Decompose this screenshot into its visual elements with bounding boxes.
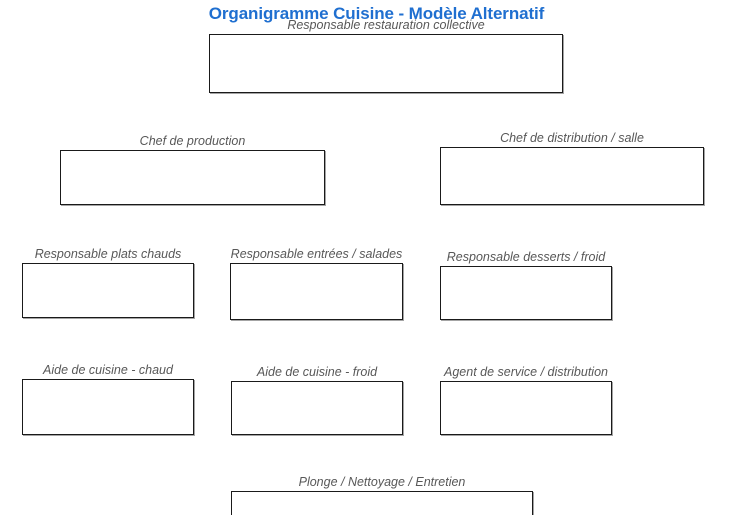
- node-chef-de-production[interactable]: Chef de production: [60, 150, 325, 205]
- node-agent-de-service-distribution[interactable]: Agent de service / distribution: [440, 381, 612, 435]
- organigramme-canvas: Organigramme Cuisine - Modèle Alternatif…: [0, 0, 753, 515]
- node-responsable-desserts-froid[interactable]: Responsable desserts / froid: [440, 266, 612, 320]
- node-responsable-plats-chauds[interactable]: Responsable plats chauds: [22, 263, 194, 318]
- node-value-chef-de-production: [60, 150, 325, 205]
- node-label-aide-de-cuisine-chaud: Aide de cuisine - chaud: [22, 363, 194, 378]
- node-value-responsable-entrees-salades: [230, 263, 403, 320]
- node-value-responsable-restauration-collective: [209, 34, 563, 93]
- node-value-agent-de-service-distribution: [440, 381, 612, 435]
- node-responsable-restauration-collective[interactable]: Responsable restauration collective: [209, 34, 563, 93]
- node-responsable-entrees-salades[interactable]: Responsable entrées / salades: [230, 263, 403, 320]
- node-aide-de-cuisine-froid[interactable]: Aide de cuisine - froid: [231, 381, 403, 435]
- node-chef-de-distribution-salle[interactable]: Chef de distribution / salle: [440, 147, 704, 205]
- node-value-plonge-nettoyage-entretien: [231, 491, 533, 515]
- node-label-aide-de-cuisine-froid: Aide de cuisine - froid: [231, 365, 403, 380]
- node-aide-de-cuisine-chaud[interactable]: Aide de cuisine - chaud: [22, 379, 194, 435]
- node-label-responsable-restauration-collective: Responsable restauration collective: [209, 18, 563, 33]
- node-label-responsable-plats-chauds: Responsable plats chauds: [22, 247, 194, 262]
- node-value-aide-de-cuisine-chaud: [22, 379, 194, 435]
- node-plonge-nettoyage-entretien[interactable]: Plonge / Nettoyage / Entretien: [231, 491, 533, 515]
- node-value-chef-de-distribution-salle: [440, 147, 704, 205]
- node-label-chef-de-production: Chef de production: [60, 134, 325, 149]
- node-label-chef-de-distribution-salle: Chef de distribution / salle: [440, 131, 704, 146]
- node-value-responsable-plats-chauds: [22, 263, 194, 318]
- node-label-responsable-entrees-salades: Responsable entrées / salades: [230, 247, 403, 262]
- node-value-responsable-desserts-froid: [440, 266, 612, 320]
- node-label-responsable-desserts-froid: Responsable desserts / froid: [440, 250, 612, 265]
- node-label-agent-de-service-distribution: Agent de service / distribution: [440, 365, 612, 380]
- node-value-aide-de-cuisine-froid: [231, 381, 403, 435]
- node-label-plonge-nettoyage-entretien: Plonge / Nettoyage / Entretien: [231, 475, 533, 490]
